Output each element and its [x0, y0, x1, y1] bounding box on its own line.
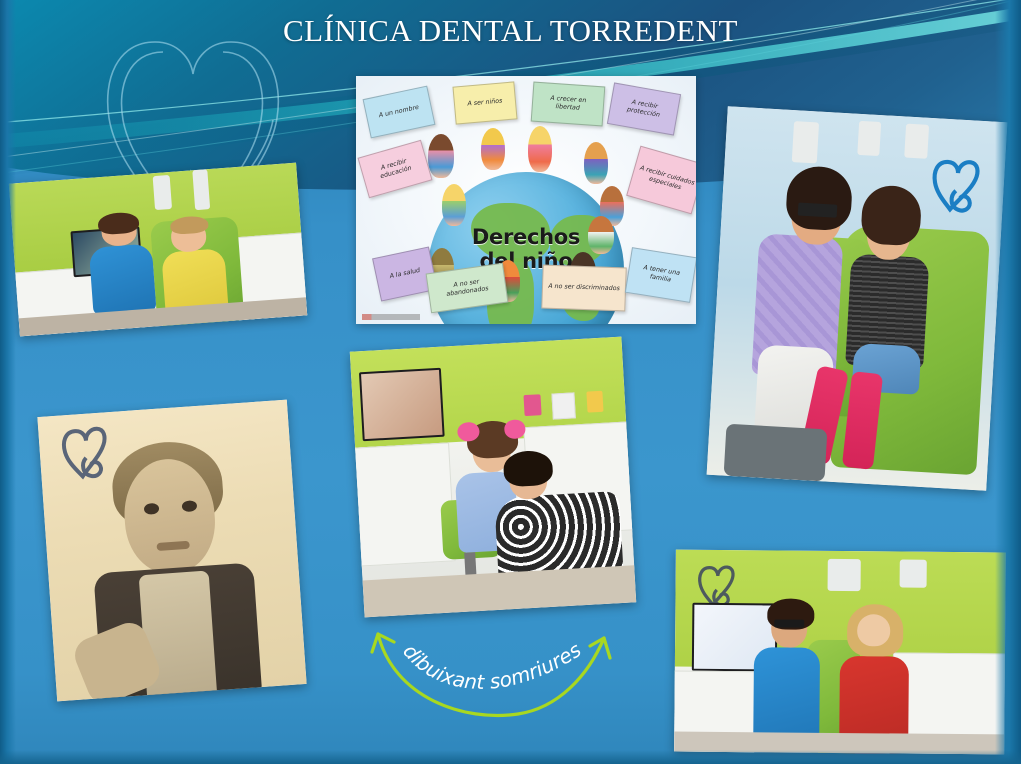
tagline-text: dibuixant somriures [398, 638, 585, 694]
dental-lamp [153, 175, 173, 210]
dental-lamp [904, 124, 928, 158]
cabinet [350, 442, 456, 566]
right-edge-vignette [995, 0, 1021, 764]
dental-lamp [857, 121, 881, 155]
patient-hair [503, 450, 554, 487]
photo-dentist-purple-scrubs-girl[interactable] [707, 106, 1008, 491]
photo-boy-sepia-portrait[interactable] [37, 400, 306, 702]
poster-sign: A crecer en libertad [531, 82, 606, 127]
child-figure [528, 126, 552, 172]
photo-dentist-teen-girl[interactable] [674, 550, 1006, 755]
slide-title: CLÍNICA DENTAL TORREDENT [0, 13, 1021, 49]
child-figure [584, 142, 608, 184]
monitor [359, 368, 444, 442]
dental-lamp [900, 560, 927, 588]
photo-dentist-blue-scrubs-boy[interactable] [9, 163, 307, 337]
child-figure [428, 134, 454, 178]
poster-title-line1: Derechos [472, 225, 580, 249]
photo-girl-playing-dentist[interactable] [350, 337, 636, 618]
left-edge-vignette [0, 0, 16, 764]
dental-lamp [792, 121, 819, 163]
poster-derechos-del-nino[interactable]: Derechos del niño A un nombre A ser niño… [356, 76, 696, 324]
dentist-body [89, 244, 157, 316]
child-figure [442, 184, 466, 226]
poster-sign: A ser niños [452, 81, 517, 124]
tagline-smile: dibuixant somriures [368, 628, 618, 718]
bottom-edge-vignette [0, 750, 1021, 764]
dental-lamp [827, 559, 860, 592]
child-figure [588, 216, 614, 254]
clinic-logo-icon [926, 155, 991, 217]
dental-lamp [193, 169, 210, 210]
child-figure [481, 128, 505, 170]
presentation-slide: CLÍNICA DENTAL TORREDENT Derechos del ni… [0, 0, 1021, 764]
clinic-logo-icon [56, 423, 120, 484]
poster-credit-logo [362, 314, 420, 320]
poster-sign: A no ser discriminados [541, 265, 626, 312]
